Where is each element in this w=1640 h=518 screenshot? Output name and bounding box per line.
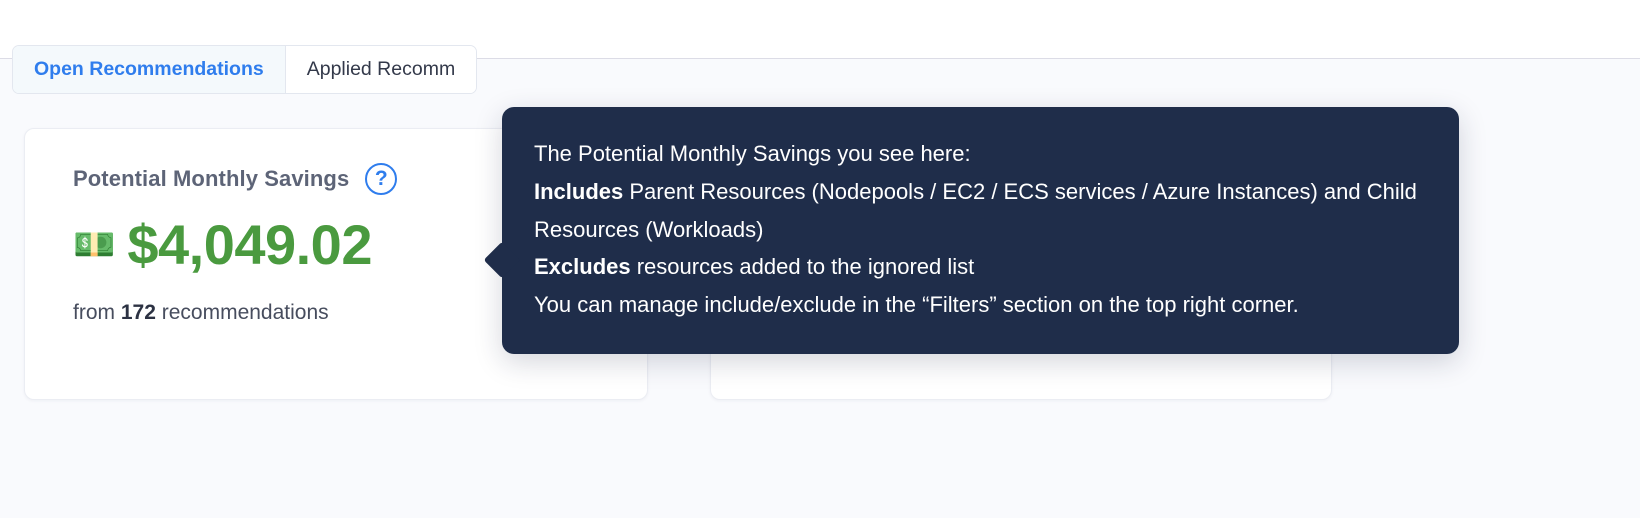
app-root: Open Recommendations Applied Recomm Pote… (0, 0, 1640, 518)
savings-count-number: 172 (121, 301, 156, 324)
tooltip-includes-label: Includes (534, 179, 623, 204)
savings-count-suffix: recommendations (162, 301, 329, 324)
tooltip-line-4: You can manage include/exclude in the “F… (534, 286, 1427, 324)
tooltip-excludes-label: Excludes (534, 254, 631, 279)
question-mark-circle-icon[interactable]: ? (365, 163, 397, 195)
tooltip-line-3: Excludes resources added to the ignored … (534, 248, 1427, 286)
savings-info-tooltip: The Potential Monthly Savings you see he… (502, 107, 1459, 354)
money-banknotes-icon: 💵 (73, 228, 115, 262)
tab-open-recommendations-label: Open Recommendations (34, 58, 264, 81)
page-title: Potential Monthly Savings (73, 166, 349, 192)
tooltip-includes-text: Parent Resources (Nodepools / EC2 / ECS … (534, 179, 1417, 242)
tab-applied-recommendations-label: Applied Recomm (307, 58, 455, 81)
savings-count-prefix: from (73, 301, 115, 324)
tooltip-line-1: The Potential Monthly Savings you see he… (534, 135, 1427, 173)
tooltip-excludes-text: resources added to the ignored list (631, 254, 975, 279)
tooltip-line-2: Includes Parent Resources (Nodepools / E… (534, 173, 1427, 249)
savings-amount-value: $4,049.02 (127, 217, 372, 273)
tab-open-recommendations[interactable]: Open Recommendations (13, 46, 286, 93)
recommendations-tabbar: Open Recommendations Applied Recomm (12, 45, 477, 94)
tab-applied-recommendations[interactable]: Applied Recomm (286, 46, 476, 93)
